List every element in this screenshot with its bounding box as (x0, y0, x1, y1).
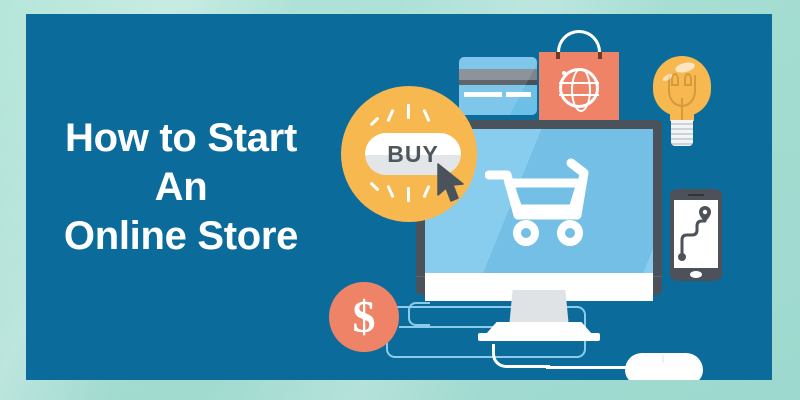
shopping-cart-icon (485, 157, 593, 249)
shopping-bag-globe-icon (539, 32, 619, 130)
computer-mouse-icon (625, 353, 703, 380)
shopping-bag-rivet-left (556, 52, 560, 59)
smartphone-map-route-icon (670, 189, 722, 281)
page-title: How to Start An Online Store (26, 114, 336, 260)
smartphone-screen (674, 200, 718, 268)
globe-icon (559, 68, 599, 108)
route-start-dot (678, 253, 686, 261)
mouse-cable-curve (492, 344, 550, 368)
shopping-bag-rivet-right (598, 52, 602, 59)
buy-ray-top-1 (407, 104, 410, 119)
buy-ray-bottom-1 (407, 187, 410, 202)
light-bulb-base (671, 120, 693, 146)
smartphone-home-button (690, 271, 702, 278)
dollar-sign: $ (329, 282, 399, 352)
globe-parallel-1 (559, 82, 599, 84)
page-title-line-3: Online Store (26, 212, 336, 261)
mouse-cursor-arrow-icon (435, 162, 469, 204)
page-title-line-1: How to Start (26, 114, 336, 163)
globe-parallel-2 (559, 94, 599, 96)
map-route-icon (674, 200, 718, 268)
smartphone-speaker (688, 194, 704, 196)
buy-button-label: BUY (387, 141, 439, 168)
page-title-line-2: An (26, 163, 336, 212)
mouse-cable (546, 366, 630, 369)
keyboard-outline-top-left (408, 302, 430, 326)
dollar-coin-icon: $ (329, 282, 399, 352)
blue-content-panel: How to Start An Online Store (26, 14, 772, 380)
buy-button-graphic[interactable]: BUY (341, 86, 477, 222)
mouse-button-seam (662, 355, 664, 363)
light-bulb-filament-stem (681, 98, 683, 120)
monitor-stand-foot (478, 333, 600, 341)
